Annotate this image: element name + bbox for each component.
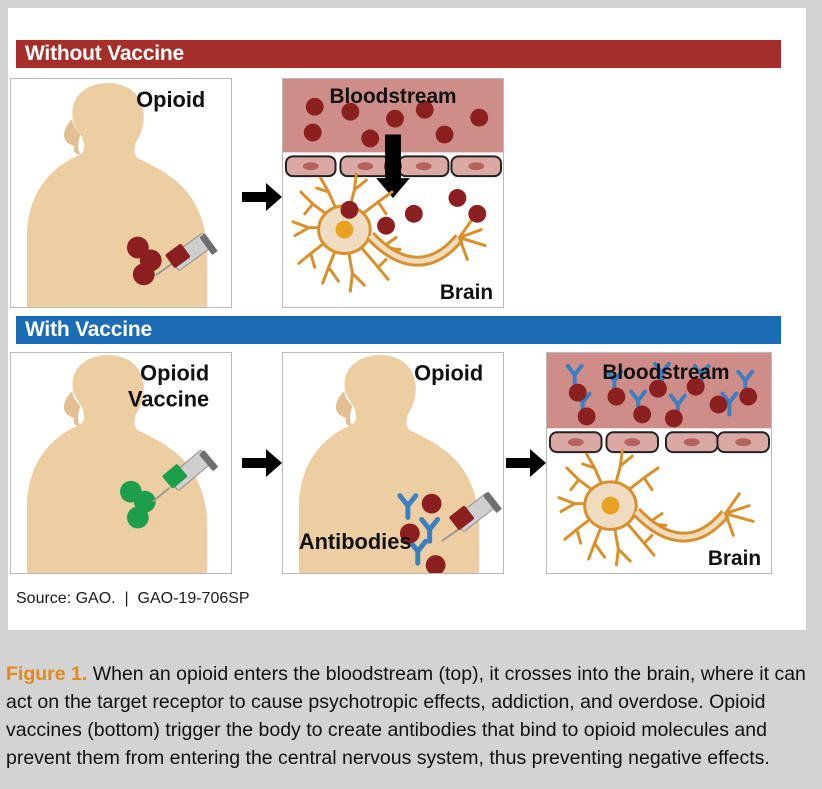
opioid-molecule (386, 110, 404, 128)
figure-caption-label: Figure 1. (6, 663, 87, 685)
figure-caption-text: When an opioid enters the bloodstream (t… (6, 663, 806, 769)
opioid-molecule (436, 126, 454, 144)
panel-label-vaccine: Vaccine (128, 387, 209, 412)
opioid-molecule (448, 189, 466, 207)
panel-label-bloodstream: Bloodstream (329, 85, 456, 108)
opioid-molecule (422, 494, 442, 514)
arrow-bottom-2 (504, 446, 548, 480)
opioid-molecule-bound (633, 406, 651, 424)
section-header-with-vaccine: With Vaccine (16, 316, 781, 344)
arrow-top-1 (240, 180, 284, 214)
opioid-molecule (304, 124, 322, 142)
panel-label-opioid: Opioid (136, 87, 205, 112)
panel-label-bloodstream: Bloodstream (602, 361, 729, 384)
neuron-nucleus (336, 221, 354, 239)
vaccine-molecule (127, 507, 149, 529)
panel-label-antibodies: Antibodies (299, 529, 412, 554)
opioid-molecule (468, 205, 486, 223)
arrow-bottom-1 (240, 446, 284, 480)
section-header-without-vaccine: Without Vaccine (16, 40, 781, 68)
blood-brain-barrier (550, 432, 769, 452)
panel-bloodstream-brain-blocked: Bloodstream Brain (546, 352, 772, 574)
opioid-molecule-bound (578, 408, 596, 426)
panel-bloodstream-brain-crossing: Bloodstream Brain (282, 78, 504, 308)
opioid-molecule (377, 217, 395, 235)
axon-terminals (459, 218, 485, 260)
opioid-molecule (133, 263, 155, 285)
opioid-molecule (361, 130, 379, 148)
opioid-molecule-bound (607, 388, 625, 406)
figure-box: Without Vaccine Opioid (8, 8, 806, 630)
panel-label-opioid: Opioid (140, 361, 209, 386)
panel-person-antibodies-opioid: Opioid Antibodies (282, 352, 504, 574)
separator-band (0, 638, 822, 652)
panel-person-opioid-injection: Opioid (10, 78, 232, 308)
opioid-molecule-bound (710, 396, 728, 414)
opioid-molecule-bound (569, 384, 587, 402)
panel-label-brain: Brain (440, 281, 493, 304)
panel-label-brain: Brain (708, 547, 761, 570)
opioid-molecule-bound (739, 388, 757, 406)
opioid-molecule (306, 98, 324, 116)
opioid-molecule (470, 109, 488, 127)
opioid-molecule (405, 205, 423, 223)
panel-label-opioid: Opioid (414, 361, 483, 386)
opioid-molecule-bound (665, 409, 683, 427)
axon-terminals (725, 494, 753, 536)
person-silhouette (27, 83, 207, 307)
opioid-molecule (340, 201, 358, 219)
figure-caption: Figure 1. When an opioid enters the bloo… (6, 660, 818, 772)
panel-person-vaccine-injection: Opioid Vaccine (10, 352, 232, 574)
neuron-nucleus (602, 497, 620, 515)
source-line: Source: GAO. | GAO-19-706SP (16, 590, 250, 608)
